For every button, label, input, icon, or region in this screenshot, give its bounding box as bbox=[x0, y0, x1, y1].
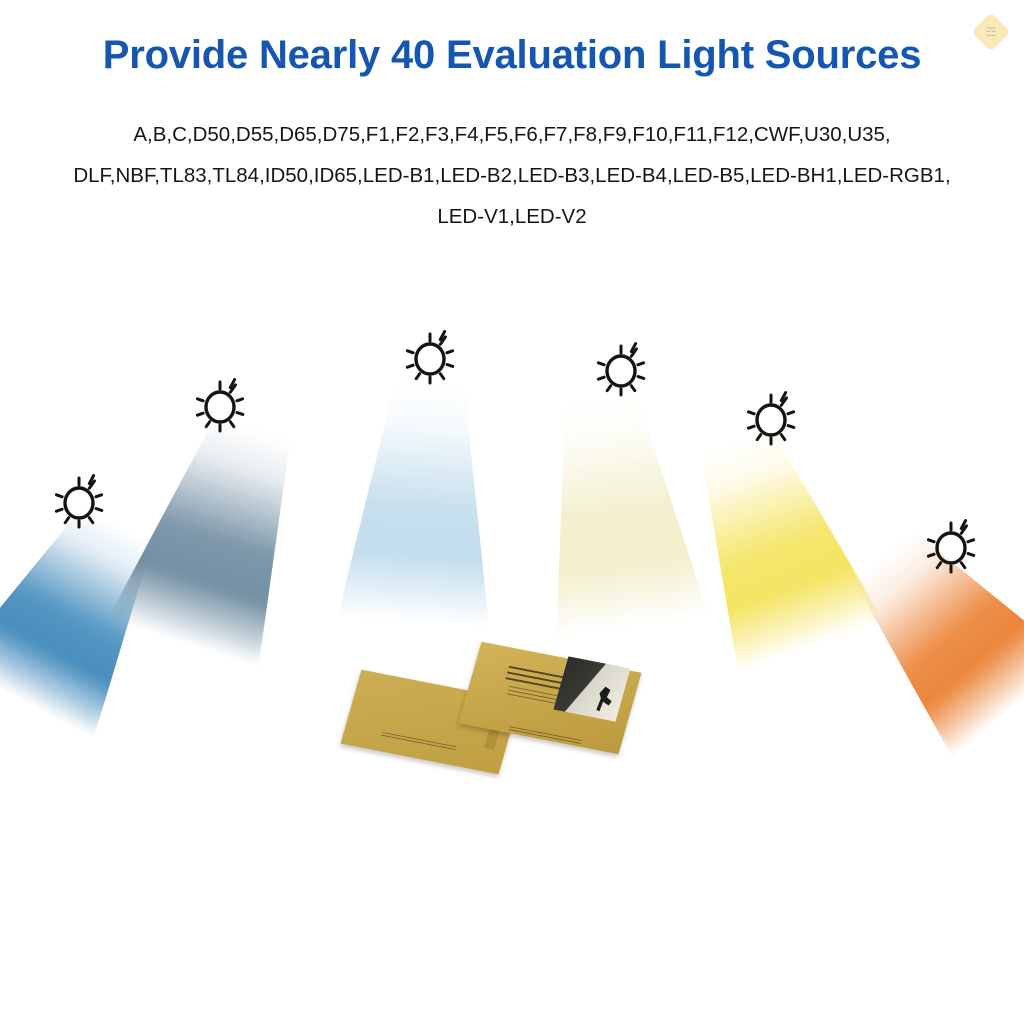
sun-icon-3 bbox=[401, 329, 459, 387]
light-beam-2 bbox=[108, 404, 328, 667]
sun-icon-1 bbox=[50, 473, 108, 531]
light-sources-infographic: ☲ Provide Nearly 40 Evaluation Light Sou… bbox=[0, 0, 1024, 1024]
sun-icon-6 bbox=[922, 518, 980, 576]
light-fan-illustration bbox=[0, 0, 1024, 1024]
light-beam-4 bbox=[524, 383, 709, 637]
light-beam-5 bbox=[664, 415, 883, 673]
sun-icon-5 bbox=[742, 390, 800, 448]
sun-icon-4 bbox=[592, 341, 650, 399]
brochure-photo-figure bbox=[593, 686, 615, 714]
light-beam-3 bbox=[337, 377, 505, 627]
sun-icon-2 bbox=[191, 377, 249, 435]
open-brochure bbox=[345, 645, 645, 780]
